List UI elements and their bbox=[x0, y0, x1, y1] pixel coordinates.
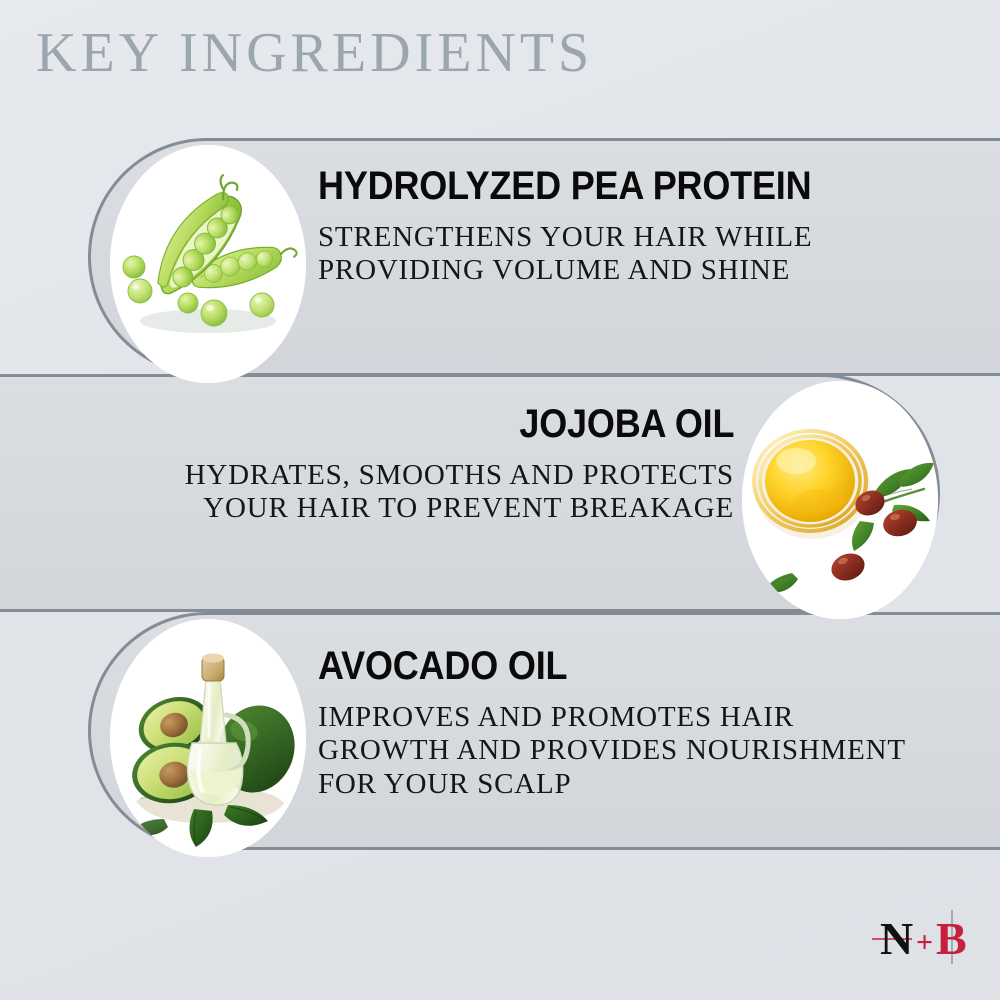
logo-letter-n: N bbox=[880, 913, 913, 964]
ingredient-heading: AVOCADO OIL bbox=[318, 646, 847, 687]
logo-letter-plus: + bbox=[916, 926, 933, 959]
page-title: KEY INGREDIENTS bbox=[36, 24, 593, 83]
ingredient-description: IMPROVES AND PROMOTES HAIR GROWTH AND PR… bbox=[318, 701, 906, 802]
avocado-oil-photo bbox=[110, 619, 306, 857]
pea-pods-photo bbox=[110, 145, 306, 383]
brand-logo-nb: N + B bbox=[868, 906, 978, 968]
ingredient-description: STRENGTHENS YOUR HAIR WHILE PROVIDING VO… bbox=[318, 221, 866, 288]
description-line: HYDRATES, SMOOTHS AND PROTECTS bbox=[185, 459, 734, 493]
description-line: YOUR HAIR TO PREVENT BREAKAGE bbox=[185, 492, 734, 526]
description-line: STRENGTHENS YOUR HAIR WHILE bbox=[318, 221, 866, 255]
logo-letter-b: B bbox=[936, 913, 967, 964]
description-line: GROWTH AND PROVIDES NOURISHMENT bbox=[318, 734, 906, 768]
description-line: FOR YOUR SCALP bbox=[318, 768, 906, 802]
infographic-page: KEY INGREDIENTS bbox=[0, 0, 1000, 1000]
ingredient-text-jojoba-oil: JOJOBA OIL HYDRATES, SMOOTHS AND PROTECT… bbox=[185, 404, 734, 526]
ingredient-heading: JOJOBA OIL bbox=[240, 404, 734, 445]
description-line: PROVIDING VOLUME AND SHINE bbox=[318, 254, 866, 288]
ingredient-text-avocado-oil: AVOCADO OIL IMPROVES AND PROMOTES HAIR G… bbox=[318, 646, 906, 802]
description-line: IMPROVES AND PROMOTES HAIR bbox=[318, 701, 906, 735]
ingredient-heading: HYDROLYZED PEA PROTEIN bbox=[318, 166, 811, 207]
jojoba-oil-photo bbox=[742, 381, 938, 619]
ingredient-description: HYDRATES, SMOOTHS AND PROTECTS YOUR HAIR… bbox=[185, 459, 734, 526]
ingredient-text-pea-protein: HYDROLYZED PEA PROTEIN STRENGTHENS YOUR … bbox=[318, 166, 866, 288]
